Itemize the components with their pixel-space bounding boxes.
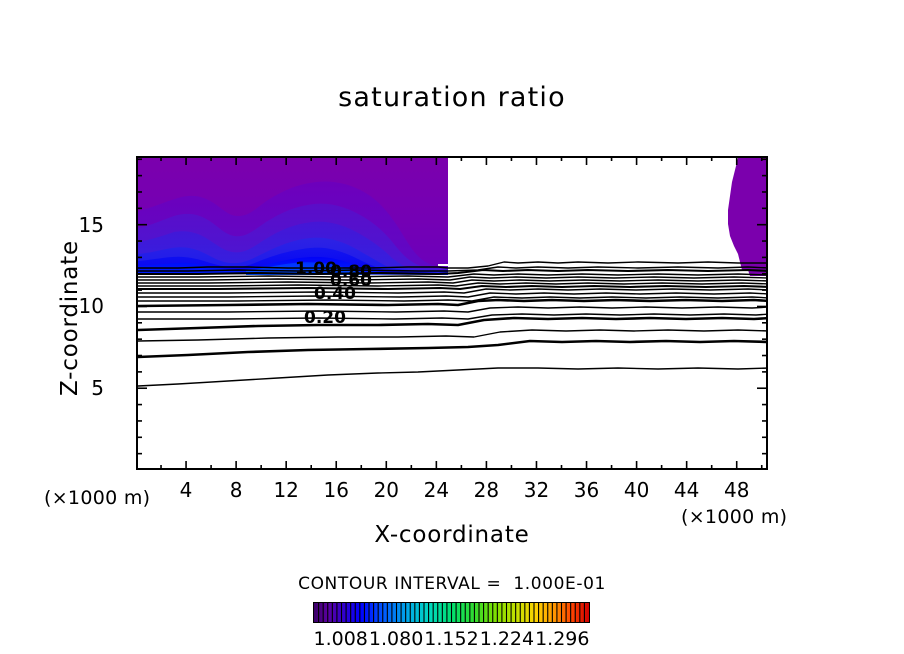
filled-region-purple-right [728,158,768,276]
contour-lines [138,262,768,386]
contour-line-a12 [138,307,768,312]
contour-label-0.20: 0.20 [304,308,346,328]
x-tick-label: 4 [180,478,193,502]
colorbar-caption: CONTOUR INTERVAL = 1.000E-01 [0,576,904,593]
contour-label-0.40: 0.40 [314,284,356,304]
contour-line-a14 [138,330,768,341]
x-tick-label: 32 [524,478,549,502]
x-tick-label: 36 [574,478,599,502]
plot-area: 1.00 0.80 0.60 0.40 0.20 [136,156,768,470]
colorbar-tick-label: 1.296 [535,628,589,650]
contour-line-a6 [138,280,768,283]
page-title: saturation ratio [0,84,904,111]
contour-line-020 [138,341,768,357]
x-tick-label: 44 [674,478,699,502]
contour-line-a5 [138,277,768,280]
colorbar [313,602,590,623]
colorbar-tick-label: 1.152 [424,628,478,650]
contour-line-040 [138,318,768,330]
colorbar-tick-label: 1.008 [313,628,367,650]
x-tick-label: 8 [230,478,243,502]
contour-plot-figure: saturation ratio [0,0,904,654]
colorbar-cell-dividers [314,603,589,622]
x-tick-label: 16 [324,478,349,502]
colorbar-tick-label: 1.080 [369,628,423,650]
x-axis-title: X-coordinate [0,524,904,547]
x-tick-label: 20 [374,478,399,502]
contour-line-a15 [138,368,768,386]
x-tick-label: 24 [424,478,449,502]
y-tick-label: 15 [79,213,104,237]
x-tick-label: 12 [273,478,298,502]
x-tick-label: 28 [474,478,499,502]
contour-canvas [138,158,768,470]
y-axis-title: Z-coordinate [59,218,82,418]
y-tick-label: 5 [91,376,104,400]
x-axis-unit-left: (×1000 m) [44,489,150,508]
x-tick-label: 40 [624,478,649,502]
filled-contour-regions [138,158,768,276]
colorbar-tick-label: 1.224 [480,628,534,650]
x-tick-label: 48 [724,478,749,502]
